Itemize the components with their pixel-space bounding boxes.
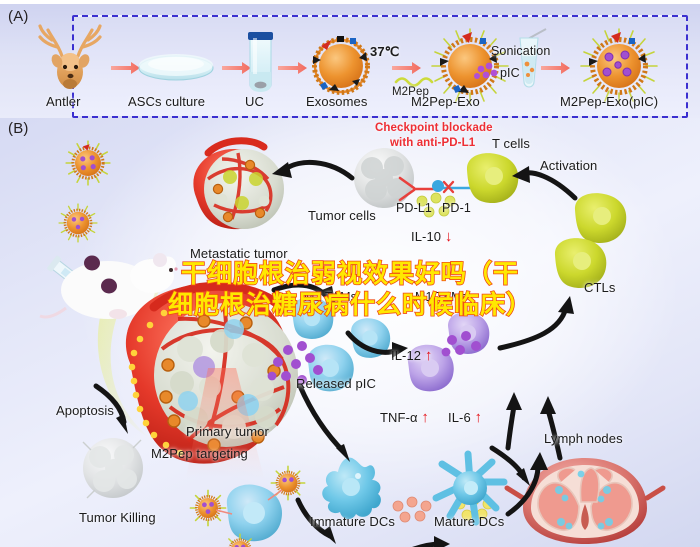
apoptotic-tumor-cell-icon bbox=[83, 438, 143, 498]
label-antler: Antler bbox=[46, 94, 81, 109]
label-metastatic-tumor: Metastatic tumor bbox=[190, 246, 288, 261]
label-pd-l1: PD-L1 bbox=[396, 201, 432, 215]
tumor-cells-icon bbox=[354, 148, 414, 208]
tnf-alpha-molecules-icon bbox=[393, 497, 431, 522]
label-m1-tams: M1 TAMs bbox=[415, 290, 468, 304]
metastatic-tumor-icon bbox=[193, 141, 284, 229]
immature-dc-icon bbox=[322, 458, 381, 519]
label-t-cells: T cells bbox=[492, 136, 530, 151]
label-m2-tams: M2 TAMs bbox=[304, 290, 357, 304]
scientific-figure: (A) bbox=[0, 0, 700, 547]
label-checkpoint-blockade-line1: Checkpoint blockade bbox=[375, 122, 493, 134]
targeting-exosome-icon bbox=[190, 490, 225, 525]
label-temperature: 37℃ bbox=[370, 44, 399, 60]
label-activation: Activation bbox=[540, 158, 597, 173]
cytokine-il-12: IL-12 ↑ bbox=[391, 347, 432, 364]
label-pic: pIC bbox=[500, 66, 520, 80]
ctl-cell-icon bbox=[575, 193, 626, 243]
cytokine-il-12-arrow: ↑ bbox=[425, 347, 433, 364]
panel-b-graphics bbox=[0, 118, 700, 547]
cytokine-il-10-label: IL-10 bbox=[411, 229, 441, 244]
exosome-particle bbox=[66, 141, 110, 185]
label-tumor-killing: Tumor Killing bbox=[79, 510, 156, 525]
uc-tube-icon bbox=[248, 32, 273, 92]
sonication-tube-icon bbox=[520, 29, 546, 87]
label-ascs-culture: ASCs culture bbox=[128, 94, 205, 109]
exosome-icon bbox=[313, 36, 368, 93]
label-released-pic: Released pIC bbox=[296, 376, 376, 391]
label-immature-dcs: Immature DCs bbox=[310, 514, 395, 529]
label-m2pep-targeting: M2Pep targeting bbox=[151, 446, 248, 461]
petri-dish-icon bbox=[139, 54, 213, 80]
antler-deer-icon bbox=[40, 26, 100, 89]
t-cell-icon bbox=[467, 153, 518, 203]
m2pep-exosome-pic-icon bbox=[581, 29, 657, 103]
label-primary-tumor: Primary tumor bbox=[186, 424, 269, 439]
m2pep-squiggle-icon bbox=[396, 79, 432, 86]
label-uc: UC bbox=[245, 94, 264, 109]
cytokine-il-6-label: IL-6 bbox=[448, 410, 471, 425]
cytokine-il-6-arrow: ↑ bbox=[475, 409, 483, 426]
label-exosomes: Exosomes bbox=[306, 94, 368, 109]
label-mature-dcs: Mature DCs bbox=[434, 514, 504, 529]
label-apoptosis: Apoptosis bbox=[56, 403, 114, 418]
cytokine-il-10: IL-10 ↓ bbox=[411, 228, 452, 245]
cytokine-tnf-alpha-label: TNF-α bbox=[380, 410, 418, 425]
lymph-node-icon bbox=[507, 458, 663, 544]
label-checkpoint-blockade-line2: with anti-PD-L1 bbox=[390, 137, 475, 149]
m2pep-targeting-macrophage-icon bbox=[227, 485, 282, 542]
label-m2pep: M2Pep bbox=[392, 86, 429, 98]
cytokine-tnf-alpha: TNF-α ↑ bbox=[380, 409, 429, 426]
cytokine-il-10-arrow: ↓ bbox=[445, 228, 453, 245]
m2pep-exosome-icon bbox=[432, 29, 508, 103]
panel-b: (B) bbox=[0, 118, 700, 547]
panel-a: (A) bbox=[0, 4, 700, 118]
label-tumor-cells: Tumor cells bbox=[308, 208, 376, 223]
label-pd-1: PD-1 bbox=[442, 201, 471, 215]
cytokine-tnf-alpha-arrow: ↑ bbox=[421, 409, 429, 426]
label-lymph-nodes: Lymph nodes bbox=[544, 431, 623, 446]
label-m2pep-exo-pic: M2Pep-Exo(pIC) bbox=[560, 94, 658, 109]
exosome-particle bbox=[59, 204, 97, 242]
cytokine-il-12-label: IL-12 bbox=[391, 348, 421, 363]
cytokine-il-6: IL-6 ↑ bbox=[448, 409, 482, 426]
label-sonication: Sonication bbox=[491, 44, 550, 58]
label-ctls: CTLs bbox=[584, 280, 615, 295]
